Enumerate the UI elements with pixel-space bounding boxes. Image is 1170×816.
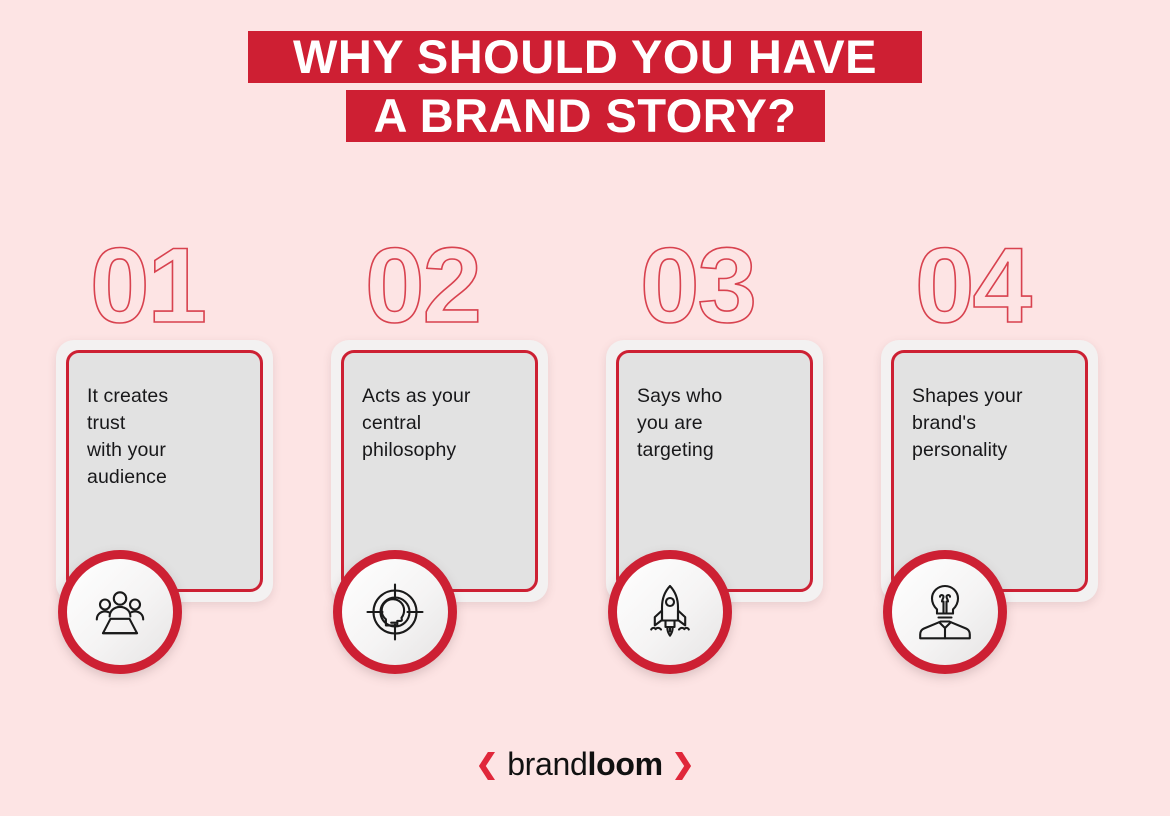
card-item[interactable]: 03 Says who you are targeting bbox=[598, 232, 831, 692]
logo-word-brand: brand bbox=[507, 746, 587, 782]
title-line-1: WHY SHOULD YOU HAVE bbox=[248, 31, 922, 83]
chevron-right-icon: ❯ bbox=[672, 751, 695, 778]
card-icon-badge[interactable] bbox=[608, 550, 732, 674]
card-number: 03 bbox=[640, 232, 755, 339]
rocket-launch-icon bbox=[638, 580, 702, 644]
badge-inner bbox=[342, 559, 448, 665]
card-text: Says who you are targeting bbox=[637, 383, 792, 464]
card-icon-badge[interactable] bbox=[333, 550, 457, 674]
card-icon-badge[interactable] bbox=[883, 550, 1007, 674]
people-group-table-icon bbox=[88, 580, 152, 644]
cards-row: 01 It creates trust with your audience bbox=[0, 232, 1170, 692]
card-text: It creates trust with your audience bbox=[87, 383, 242, 491]
lightbulb-person-icon bbox=[913, 580, 977, 644]
card-icon-badge[interactable] bbox=[58, 550, 182, 674]
card-text: Shapes your brand's personality bbox=[912, 383, 1067, 464]
title-line-2: A BRAND STORY? bbox=[346, 90, 825, 142]
logo-word-loom: loom bbox=[588, 746, 663, 782]
card-number: 01 bbox=[90, 232, 205, 339]
brand-logo: ❮ brandloom ❯ bbox=[0, 748, 1170, 780]
logo-wordmark: brandloom bbox=[507, 748, 663, 780]
target-head-icon bbox=[363, 580, 427, 644]
page-title: WHY SHOULD YOU HAVE A BRAND STORY? bbox=[0, 0, 1170, 142]
chevron-left-icon: ❮ bbox=[476, 751, 499, 778]
badge-inner bbox=[617, 559, 723, 665]
card-item[interactable]: 02 Acts as your central philosophy bbox=[323, 232, 556, 692]
badge-inner bbox=[892, 559, 998, 665]
badge-inner bbox=[67, 559, 173, 665]
card-item[interactable]: 04 Shapes your brand's personality bbox=[873, 232, 1106, 692]
card-number: 02 bbox=[365, 232, 480, 339]
card-item[interactable]: 01 It creates trust with your audience bbox=[48, 232, 281, 692]
card-text: Acts as your central philosophy bbox=[362, 383, 517, 464]
card-number: 04 bbox=[915, 232, 1030, 339]
